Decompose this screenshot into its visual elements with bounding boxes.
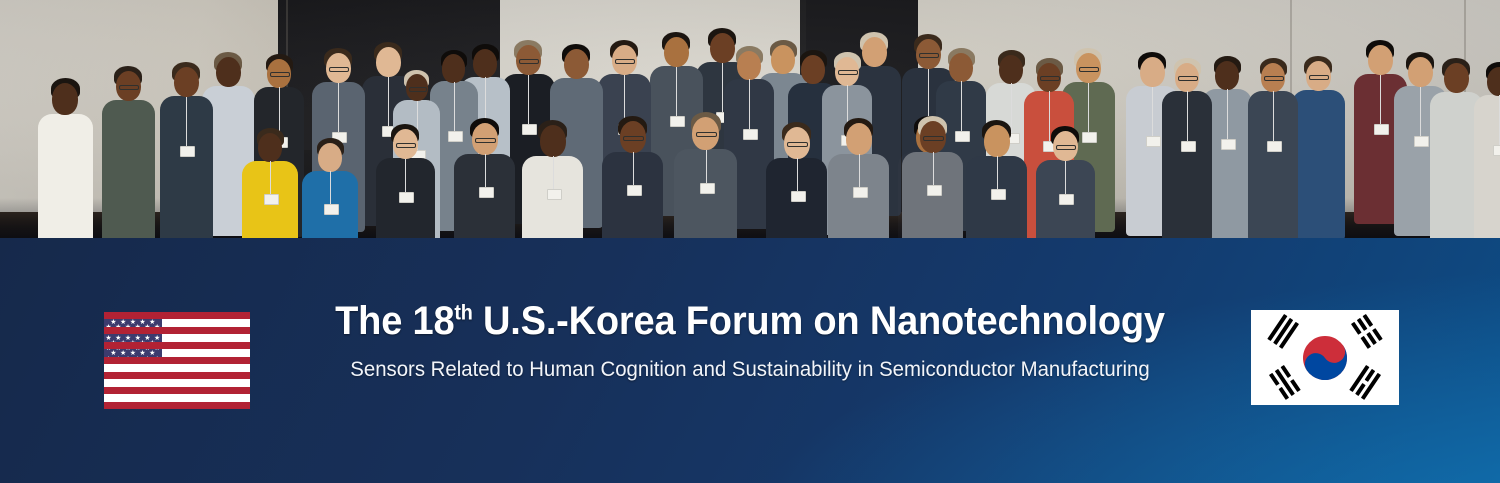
attendee-lanyard (270, 161, 271, 194)
title-block: The 18th U.S.-Korea Forum on Nanotechnol… (258, 298, 1242, 383)
attendee-lanyard (1420, 87, 1421, 137)
attendee-name-badge (399, 192, 414, 203)
attendee-head (258, 133, 282, 162)
us-flag-stripe (104, 402, 250, 409)
attendee-lanyard (553, 156, 554, 189)
attendee-lanyard (1227, 89, 1228, 139)
us-flag-stripe (104, 357, 250, 364)
attendee-lanyard (633, 152, 634, 185)
attendee (452, 118, 517, 238)
attendee-name-badge (1059, 194, 1074, 205)
attendee-head (846, 123, 872, 155)
attendee-name-badge (743, 129, 758, 140)
attendee-lanyard (676, 67, 677, 117)
attendee (672, 112, 740, 238)
attendee-name-badge (1414, 136, 1429, 147)
attendee-lanyard (928, 69, 929, 119)
attendee-lanyard (1273, 91, 1274, 141)
taeguk-symbol (1294, 327, 1355, 388)
attendee-glasses (396, 143, 416, 148)
attendee (1034, 126, 1097, 238)
attendee (240, 128, 300, 238)
attendee (100, 66, 156, 238)
attendee-head (664, 37, 689, 68)
attendee-glasses (1178, 76, 1197, 81)
attendee-head (1444, 63, 1469, 94)
attendee-glasses (270, 72, 289, 77)
attendee-lanyard (528, 75, 529, 125)
attendee-torso (102, 100, 155, 238)
attendee-name-badge (791, 191, 806, 202)
attendee-head (174, 67, 199, 98)
attendee-lanyard (388, 77, 389, 127)
attendee-lanyard (997, 156, 998, 189)
attendee (1246, 58, 1300, 238)
trigram-gam (1267, 365, 1300, 401)
attendee-head (318, 143, 342, 172)
attendee-lanyard (859, 154, 860, 187)
attendee (158, 62, 214, 238)
attendee-head (1487, 67, 1500, 96)
attendee-name-badge (853, 187, 868, 198)
attendee-glasses (1056, 145, 1076, 150)
attendee-name-badge (1181, 141, 1196, 152)
attendee-name-badge (1374, 124, 1389, 135)
attendee-lanyard (1187, 91, 1188, 141)
attendee-lanyard (933, 152, 934, 185)
attendee (964, 120, 1029, 238)
attendee-name-badge (264, 194, 279, 205)
attendee-glasses (615, 59, 635, 64)
united-states-flag-icon: ★★★★★★★★★★★★★★★★★★★★★★★★★★★★★★★★★★★★★★★★… (104, 312, 250, 409)
attendee-glasses (787, 142, 808, 147)
attendee (600, 116, 665, 238)
trigram-gon (1349, 314, 1382, 350)
attendee-glasses (1264, 76, 1283, 81)
attendee-head (984, 125, 1010, 157)
attendee-lanyard (485, 154, 486, 187)
attendee-lanyard (1380, 75, 1381, 125)
attendee-lanyard (706, 150, 707, 183)
attendee-head (52, 83, 78, 115)
attendee-name-badge (324, 204, 339, 215)
title-prefix: The 18 (335, 299, 454, 343)
attendee-lanyard (186, 97, 187, 147)
attendee-glasses (623, 136, 644, 141)
attendee-glasses (1040, 76, 1059, 81)
page-subtitle: Sensors Related to Human Cognition and S… (273, 357, 1227, 383)
title-ordinal-suffix: th (454, 302, 472, 325)
attendee-name-badge (700, 183, 715, 194)
attendee-glasses (696, 132, 717, 137)
attendee-glasses (923, 136, 944, 141)
attendee-head (540, 125, 566, 157)
attendee (300, 138, 360, 238)
us-flag-stripe (104, 342, 250, 349)
attendee-head (999, 55, 1023, 84)
attendee-name-badge (991, 189, 1006, 200)
south-korea-flag-icon (1251, 310, 1399, 405)
attendee-lanyard (405, 159, 406, 192)
attendee-glasses (1309, 75, 1329, 80)
attendee-head (737, 51, 761, 80)
title-suffix: U.S.-Korea Forum on Nanotechnology (473, 299, 1165, 343)
attendee (826, 118, 891, 238)
attendee-name-badge (927, 185, 942, 196)
attendee-glasses (119, 85, 139, 90)
trigram-ri (1349, 365, 1382, 401)
page-title: The 18th U.S.-Korea Forum on Nanotechnol… (283, 298, 1218, 344)
attendee-glasses (329, 67, 349, 72)
attendee (764, 122, 829, 238)
attendee-name-badge (627, 185, 642, 196)
attendee-head (949, 53, 973, 82)
attendee-name-badge (1493, 145, 1500, 156)
attendee-head (216, 57, 241, 88)
attendee-name-badge (479, 187, 494, 198)
attendee-glasses (475, 138, 496, 143)
attendee-head (1215, 61, 1239, 90)
us-flag-stripe (104, 312, 250, 319)
us-flag-stripe (104, 387, 250, 394)
attendee-lanyard (1088, 83, 1089, 133)
attendee-lanyard (749, 79, 750, 129)
attendee-lanyard (330, 171, 331, 204)
attendee-glasses (519, 59, 539, 64)
group-photo (0, 0, 1500, 238)
attendee-name-badge (1146, 136, 1161, 147)
attendee-lanyard (338, 83, 339, 133)
us-flag-stripe (104, 327, 250, 334)
attendee-name-badge (1221, 139, 1236, 150)
attendee (900, 116, 965, 238)
attendee-lanyard (1152, 87, 1153, 137)
forum-banner-image: ★★★★★★★★★★★★★★★★★★★★★★★★★★★★★★★★★★★★★★★★… (0, 0, 1500, 483)
attendee (520, 120, 585, 238)
attendee-lanyard (1065, 161, 1066, 194)
attendee-name-badge (1267, 141, 1282, 152)
trigram-geon (1267, 314, 1300, 350)
attendee-glasses (838, 70, 857, 75)
attendee-torso (1474, 95, 1500, 238)
attendee-lanyard (797, 158, 798, 191)
attendee-glasses (409, 87, 427, 92)
attendee (1160, 58, 1214, 238)
us-flag-stripe (104, 372, 250, 379)
attendee-head (1368, 45, 1393, 76)
attendee-head (564, 49, 589, 80)
attendee-glasses (1079, 67, 1099, 72)
attendee-head (442, 54, 465, 82)
attendee-name-badge (180, 146, 195, 157)
attendee (374, 124, 437, 238)
attendee (1472, 62, 1500, 238)
attendee-torso (38, 114, 93, 238)
attendee (36, 78, 95, 238)
attendee-name-badge (547, 189, 562, 200)
